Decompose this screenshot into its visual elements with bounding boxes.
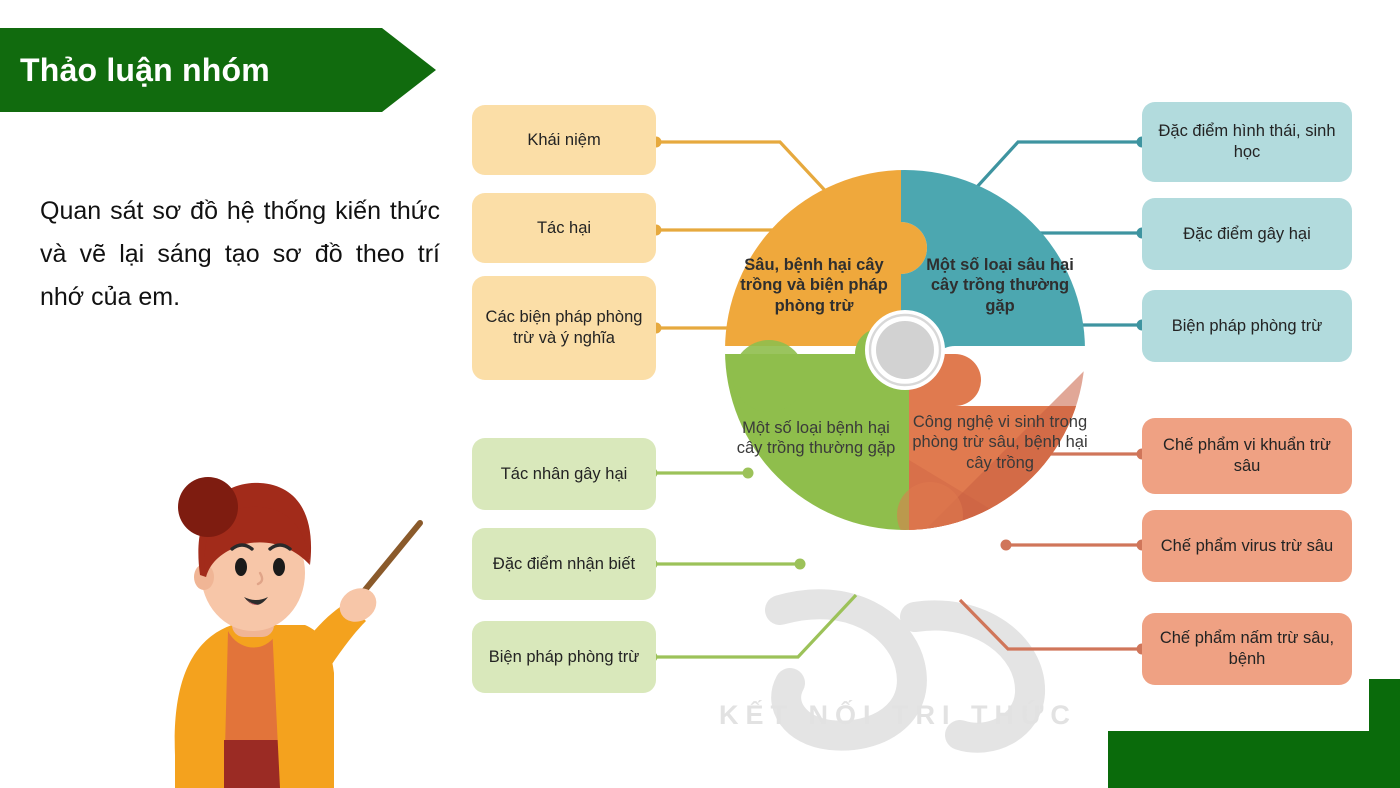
- card-label: Chế phẩm nấm trừ sâu, bệnh: [1152, 628, 1342, 670]
- puzzle-wheel: [725, 170, 1085, 530]
- banner-title: Thảo luận nhóm: [20, 28, 270, 112]
- connector-dot: [1001, 540, 1012, 551]
- eye-right-icon: [273, 558, 285, 576]
- card-label: Khái niệm: [527, 130, 600, 151]
- slide-canvas: Thảo luận nhóm Quan sát sơ đồ hệ thống k…: [0, 0, 1400, 788]
- branch-card-che-pham-virus-tru-sau[interactable]: Chế phẩm virus trừ sâu: [1142, 510, 1352, 582]
- card-label: Đặc điểm nhận biết: [493, 554, 635, 575]
- connector-dot: [795, 559, 806, 570]
- card-label: Đặc điểm hình thái, sinh học: [1152, 121, 1342, 163]
- knowledge-map-diagram: Sâu, bệnh hại cây trồng và biện pháp phò…: [460, 80, 1400, 740]
- teacher-pointing-illustration: [120, 455, 440, 788]
- card-label: Chế phẩm vi khuẩn trừ sâu: [1152, 435, 1342, 477]
- branch-card-cac-bien-phap-phong-tru-va-y-nghia[interactable]: Các biện pháp phòng trừ và ý nghĩa: [472, 276, 656, 380]
- card-label: Chế phẩm virus trừ sâu: [1161, 536, 1333, 557]
- branch-card-dac-diem-nhan-biet[interactable]: Đặc điểm nhận biết: [472, 528, 656, 600]
- section-banner: Thảo luận nhóm: [0, 28, 436, 112]
- branch-card-dac-diem-hinh-thai-sinh-hoc[interactable]: Đặc điểm hình thái, sinh học: [1142, 102, 1352, 182]
- branch-card-tac-hai[interactable]: Tác hại: [472, 193, 656, 263]
- branch-card-che-pham-nam-tru-sau-benh[interactable]: Chế phẩm nấm trừ sâu, bệnh: [1142, 613, 1352, 685]
- card-label: Tác hại: [537, 218, 591, 239]
- branch-card-dac-diem-gay-hai[interactable]: Đặc điểm gây hại: [1142, 198, 1352, 270]
- hair-bun-shape: [178, 477, 238, 537]
- instruction-text: Quan sát sơ đồ hệ thống kiến thức và vẽ …: [40, 190, 440, 319]
- branch-card-bien-phap-phong-tru-sau[interactable]: Biện pháp phòng trừ: [1142, 290, 1352, 362]
- branch-card-khai-niem[interactable]: Khái niệm: [472, 105, 656, 175]
- belt-shape: [224, 740, 282, 788]
- card-label: Biện pháp phòng trừ: [1172, 316, 1323, 337]
- branch-card-che-pham-vi-khuan-tru-sau[interactable]: Chế phẩm vi khuẩn trừ sâu: [1142, 418, 1352, 494]
- branch-card-tac-nhan-gay-hai[interactable]: Tác nhân gây hại: [472, 438, 656, 510]
- eye-left-icon: [235, 558, 247, 576]
- card-label: Tác nhân gây hại: [501, 464, 628, 485]
- card-label: Biện pháp phòng trừ: [489, 647, 640, 668]
- hub-center: [876, 321, 934, 379]
- branch-card-bien-phap-phong-tru-benh[interactable]: Biện pháp phòng trừ: [472, 621, 656, 693]
- card-label: Đặc điểm gây hại: [1183, 224, 1310, 245]
- card-label: Các biện pháp phòng trừ và ý nghĩa: [482, 307, 646, 349]
